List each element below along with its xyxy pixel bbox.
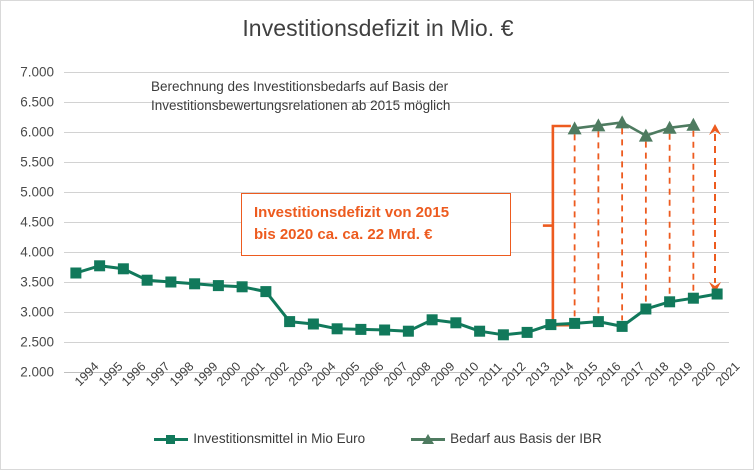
data-point-square[interactable] xyxy=(664,296,675,307)
legend-label-bedarf-ibr: Bedarf aus Basis der IBR xyxy=(450,431,602,446)
data-point-square[interactable] xyxy=(142,275,153,286)
data-point-square[interactable] xyxy=(70,268,81,279)
data-point-square[interactable] xyxy=(474,326,485,337)
chart-title: Investitionsdefizit in Mio. € xyxy=(1,15,754,42)
legend-item-bedarf-ibr[interactable]: Bedarf aus Basis der IBR xyxy=(411,431,602,446)
data-point-square[interactable] xyxy=(308,319,319,330)
legend-label-investitionsmittel: Investitionsmittel in Mio Euro xyxy=(193,431,365,446)
data-point-square[interactable] xyxy=(94,260,105,271)
note-top-line1: Berechnung des Investitionsbedarfs auf B… xyxy=(151,77,551,96)
y-axis-tick-label: 6.500 xyxy=(0,95,54,110)
y-axis-tick-label: 3.000 xyxy=(0,305,54,320)
y-axis-tick-label: 6.000 xyxy=(0,125,54,140)
data-point-square[interactable] xyxy=(712,289,723,300)
y-axis-tick-label: 2.000 xyxy=(0,365,54,380)
deficit-line1: Investitionsdefizit von 2015 xyxy=(254,202,500,224)
data-point-square[interactable] xyxy=(450,317,461,328)
data-point-square[interactable] xyxy=(427,314,438,325)
y-axis-tick-label: 2.500 xyxy=(0,335,54,350)
deficit-line2: bis 2020 ca. ca. 22 Mrd. € xyxy=(254,224,500,246)
data-point-square[interactable] xyxy=(284,316,295,327)
data-point-square[interactable] xyxy=(498,329,509,340)
y-axis-tick-label: 4.000 xyxy=(0,245,54,260)
legend-key-triangle-icon xyxy=(411,432,445,446)
data-point-square[interactable] xyxy=(617,321,628,332)
y-axis-tick-label: 3.500 xyxy=(0,275,54,290)
y-axis-tick-label: 7.000 xyxy=(0,65,54,80)
note-top-line2: Investitionsbewertungsrelationen ab 2015… xyxy=(151,96,551,115)
annotation-gap-arrow xyxy=(709,124,721,293)
y-axis-tick-label: 5.000 xyxy=(0,185,54,200)
data-point-square[interactable] xyxy=(237,281,248,292)
annotation-bracket xyxy=(543,126,571,325)
data-point-square[interactable] xyxy=(118,263,129,274)
legend-item-investitionsmittel[interactable]: Investitionsmittel in Mio Euro xyxy=(154,431,365,446)
data-point-square[interactable] xyxy=(189,278,200,289)
data-point-square[interactable] xyxy=(260,286,271,297)
annotation-note-top: Berechnung des Investitionsbedarfs auf B… xyxy=(151,77,551,115)
legend-key-square-icon xyxy=(154,432,188,446)
data-point-square[interactable] xyxy=(403,326,414,337)
data-point-square[interactable] xyxy=(522,327,533,338)
data-point-square[interactable] xyxy=(569,318,580,329)
data-point-square[interactable] xyxy=(593,316,604,327)
data-point-square[interactable] xyxy=(213,280,224,291)
chart-legend: Investitionsmittel in Mio Euro Bedarf au… xyxy=(1,431,754,446)
y-axis-tick-label: 4.500 xyxy=(0,215,54,230)
data-point-square[interactable] xyxy=(640,304,651,315)
data-point-square[interactable] xyxy=(688,293,699,304)
data-point-square[interactable] xyxy=(355,324,366,335)
chart-container: Investitionsdefizit in Mio. € 7.0006.500… xyxy=(0,0,754,470)
annotation-deficit-box: Investitionsdefizit von 2015 bis 2020 ca… xyxy=(241,193,511,256)
data-point-square[interactable] xyxy=(332,323,343,334)
data-point-square[interactable] xyxy=(165,277,176,288)
y-axis-tick-label: 5.500 xyxy=(0,155,54,170)
data-point-square[interactable] xyxy=(379,325,390,336)
data-point-square[interactable] xyxy=(545,319,556,330)
